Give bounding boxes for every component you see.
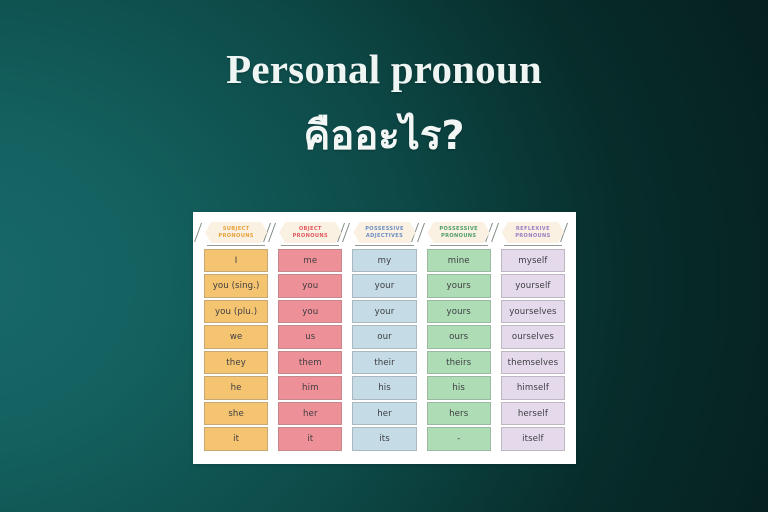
ribbon-banner: REFLEXIVE PRONOUNS [502, 222, 564, 243]
table-row: sheherherhersherself [200, 402, 569, 425]
table-header-cell-2: POSSESSIVE ADJECTIVES [348, 220, 420, 246]
table-cell: hers [427, 402, 491, 425]
table-cell: ours [427, 325, 491, 348]
pronoun-table-card: SUBJECT PRONOUNSOBJECT PRONOUNSPOSSESSIV… [193, 212, 576, 464]
table-cell: mine [427, 249, 491, 272]
table-cell: him [278, 376, 342, 399]
table-row: ititits-itself [200, 427, 569, 450]
title-block: Personal pronoun คืออะไร? [0, 48, 768, 159]
table-header-label: POSSESSIVE PRONOUNS [439, 226, 478, 239]
table-cell: yours [427, 274, 491, 297]
page-title: Personal pronoun [0, 48, 768, 91]
table-header-cell-0: SUBJECT PRONOUNS [200, 220, 272, 246]
ribbon-underline [504, 245, 562, 247]
ribbon-banner: POSSESSIVE PRONOUNS [428, 222, 490, 243]
table-cell: you (sing.) [204, 274, 268, 297]
table-cell: his [352, 376, 416, 399]
table-row: hehimhishishimself [200, 376, 569, 399]
table-cell: you (plu.) [204, 300, 268, 323]
slide-canvas: Personal pronoun คืออะไร? SUBJECT PRONOU… [0, 0, 768, 512]
table-cell: itself [501, 427, 565, 450]
table-header-label: OBJECT PRONOUNS [293, 226, 328, 239]
table-cell: yourselves [501, 300, 565, 323]
table-cell: herself [501, 402, 565, 425]
table-header-label: REFLEXIVE PRONOUNS [515, 226, 550, 239]
table-cell: it [278, 427, 342, 450]
table-cell: themselves [501, 351, 565, 374]
table-cell: I [204, 249, 268, 272]
page-subtitle-thai: คืออะไร? [0, 113, 768, 159]
table-cell: her [278, 402, 342, 425]
table-cell: himself [501, 376, 565, 399]
table-cell: they [204, 351, 268, 374]
table-cell: theirs [427, 351, 491, 374]
table-cell: we [204, 325, 268, 348]
table-header-label: POSSESSIVE ADJECTIVES [365, 226, 404, 239]
table-cell: you [278, 300, 342, 323]
table-cell: you [278, 274, 342, 297]
table-cell: yours [427, 300, 491, 323]
ribbon-banner: SUBJECT PRONOUNS [205, 222, 267, 243]
table-row: you (sing.)youyouryoursyourself [200, 274, 569, 297]
table-cell: us [278, 325, 342, 348]
table-row: you (plu.)youyouryoursyourselves [200, 300, 569, 323]
table-cell: your [352, 300, 416, 323]
table-header-cell-4: REFLEXIVE PRONOUNS [497, 220, 569, 246]
ribbon-banner: OBJECT PRONOUNS [279, 222, 341, 243]
table-cell: she [204, 402, 268, 425]
table-cell: them [278, 351, 342, 374]
table-cell: my [352, 249, 416, 272]
ribbon-underline [207, 245, 265, 247]
table-cell: he [204, 376, 268, 399]
table-cell: her [352, 402, 416, 425]
table-cell: - [427, 427, 491, 450]
table-header-cell-1: OBJECT PRONOUNS [274, 220, 346, 246]
table-row: Imemyminemyself [200, 249, 569, 272]
table-cell: me [278, 249, 342, 272]
table-cell: their [352, 351, 416, 374]
table-row: theythemtheirtheirsthemselves [200, 351, 569, 374]
table-cell: myself [501, 249, 565, 272]
table-header-label: SUBJECT PRONOUNS [218, 226, 253, 239]
table-cell: his [427, 376, 491, 399]
table-row: weusouroursourselves [200, 325, 569, 348]
table-header-row: SUBJECT PRONOUNSOBJECT PRONOUNSPOSSESSIV… [200, 220, 569, 246]
table-body: Imemyminemyselfyou (sing.)youyouryoursyo… [200, 249, 569, 451]
ribbon-underline [281, 245, 339, 247]
ribbon-underline [430, 245, 488, 247]
table-cell: your [352, 274, 416, 297]
ribbon-underline [355, 245, 413, 247]
ribbon-banner: POSSESSIVE ADJECTIVES [353, 222, 415, 243]
table-cell: ourselves [501, 325, 565, 348]
table-cell: yourself [501, 274, 565, 297]
table-cell: it [204, 427, 268, 450]
table-header-cell-3: POSSESSIVE PRONOUNS [423, 220, 495, 246]
table-cell: our [352, 325, 416, 348]
table-cell: its [352, 427, 416, 450]
